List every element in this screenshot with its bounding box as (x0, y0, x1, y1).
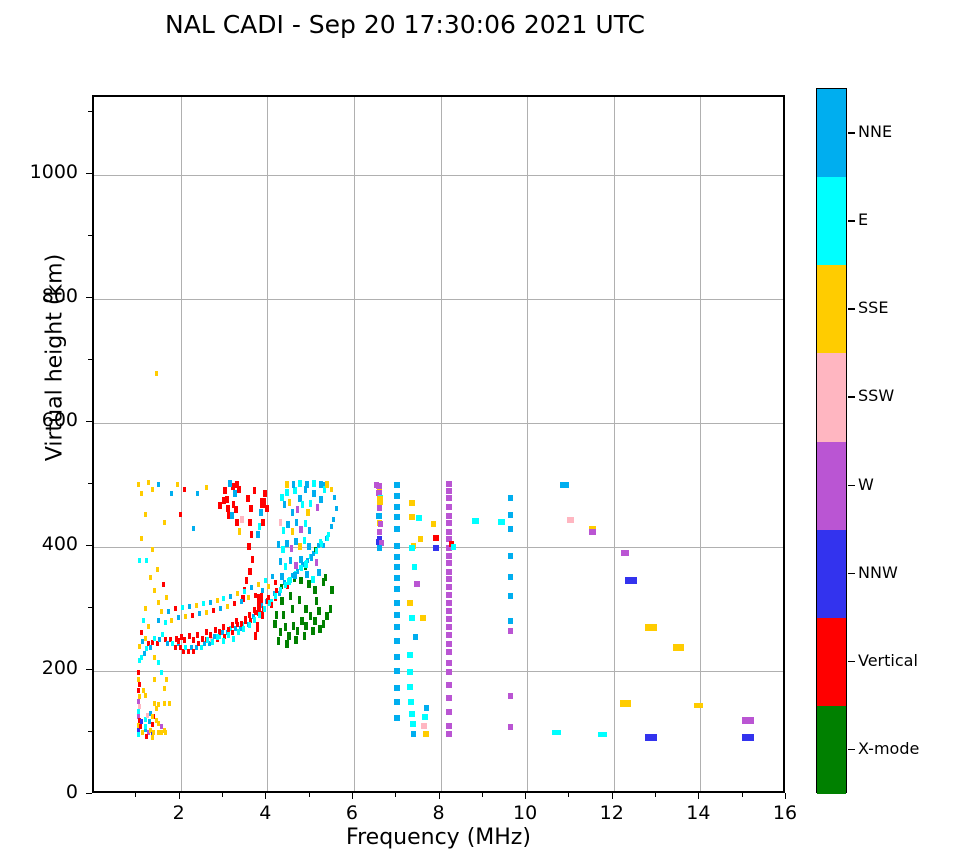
echo-point (243, 589, 246, 594)
echo-point (394, 554, 400, 560)
colorbar-label-x-mode: X-mode (858, 739, 919, 758)
echo-point (446, 616, 452, 622)
colorbar-label-e: E (858, 210, 868, 229)
echo-point (140, 536, 143, 541)
echo-point (424, 705, 430, 711)
echo-point (407, 652, 413, 658)
echo-point (412, 564, 418, 570)
echo-point (282, 611, 285, 619)
echo-point (333, 495, 336, 500)
echo-point (293, 487, 296, 494)
echo-point (283, 501, 286, 508)
echo-point (265, 505, 269, 512)
colorbar-segment-w (817, 442, 846, 530)
echo-point (313, 617, 316, 625)
x-tick-label: 10 (495, 802, 555, 824)
echo-point (184, 614, 187, 619)
echo-point (508, 724, 514, 730)
echo-point (446, 495, 452, 501)
echo-point (446, 560, 452, 566)
echo-point (248, 568, 251, 575)
echo-point (300, 565, 303, 571)
echo-point (137, 482, 140, 487)
echo-point (394, 600, 400, 606)
x-tick-minor (655, 793, 656, 797)
colorbar-label-nnw: NNW (858, 563, 898, 582)
y-tick-minor (88, 359, 92, 360)
echo-point (149, 645, 152, 650)
echo-point (288, 499, 291, 506)
echo-point (304, 520, 307, 527)
x-tick-label: 16 (755, 802, 815, 824)
echo-point (330, 586, 333, 594)
echo-point (307, 580, 310, 588)
echo-point (567, 517, 575, 523)
echo-point (235, 481, 239, 488)
echo-point (163, 520, 166, 525)
echo-point (421, 723, 427, 729)
echo-point (284, 563, 287, 570)
echo-point (319, 496, 322, 503)
echo-point (299, 526, 302, 533)
echo-point (253, 617, 256, 623)
echo-point (160, 609, 163, 614)
echo-point (446, 709, 452, 715)
y-tick-minor (88, 731, 92, 732)
echo-point (137, 670, 140, 675)
echo-point (222, 596, 225, 601)
echo-point (645, 734, 656, 741)
ionogram-page: NAL CADI - Sep 20 17:30:06 2021 UTC 2468… (0, 0, 958, 857)
echo-point (235, 519, 239, 526)
echo-point (446, 624, 452, 630)
x-tick (179, 793, 180, 799)
echo-point (394, 685, 400, 691)
echo-point (238, 528, 242, 535)
echo-point (198, 611, 201, 616)
echo-point (222, 624, 225, 630)
echo-point (446, 576, 452, 582)
echo-point (378, 521, 383, 527)
echo-point (286, 521, 289, 528)
echo-point (168, 701, 171, 706)
echo-point (433, 535, 439, 541)
echo-point (325, 481, 328, 488)
echo-point (153, 588, 156, 593)
echo-point (176, 482, 179, 487)
echo-point (285, 640, 288, 648)
x-tick-minor (568, 793, 569, 797)
colorbar-segment-vertical (817, 618, 846, 706)
colorbar-segment-nnw (817, 530, 846, 618)
echo-point (409, 514, 415, 520)
echo-point (311, 627, 314, 635)
echo-point (394, 482, 400, 488)
echo-point (242, 626, 245, 632)
echo-point (157, 702, 160, 707)
echo-point (226, 604, 229, 609)
echo-point (589, 529, 596, 535)
echo-point (216, 598, 219, 603)
x-tick-label: 6 (322, 802, 382, 824)
echo-point (394, 526, 400, 532)
colorbar (816, 88, 847, 793)
echo-point (315, 559, 318, 566)
echo-point (284, 623, 287, 631)
echo-point (275, 611, 278, 619)
echo-point (282, 527, 285, 534)
echo-point (310, 554, 313, 561)
echo-point (295, 519, 298, 526)
echo-point (394, 638, 400, 644)
echo-point (188, 604, 191, 609)
echo-point (446, 584, 452, 590)
echo-point (211, 639, 214, 645)
echo-point (246, 495, 249, 502)
echo-point (305, 481, 308, 488)
echo-point (446, 592, 452, 598)
echo-point (418, 536, 424, 542)
echo-point (218, 502, 222, 509)
echo-point (240, 599, 243, 604)
echo-point (229, 594, 232, 599)
x-tick-label: 4 (235, 802, 295, 824)
echo-point (394, 564, 400, 570)
x-tick-label: 8 (409, 802, 469, 824)
echo-point (446, 649, 452, 655)
echo-point (433, 545, 439, 551)
echo-point (250, 531, 253, 538)
y-tick-label: 200 (0, 657, 78, 679)
echo-point (416, 515, 422, 521)
echo-point (552, 730, 561, 735)
echo-point (281, 546, 284, 553)
echo-point (508, 553, 514, 559)
echo-point (153, 677, 156, 682)
echo-point (201, 636, 204, 642)
echo-point (232, 636, 235, 642)
echo-point (170, 491, 173, 496)
echo-point (138, 644, 141, 649)
echo-point (165, 677, 168, 682)
echo-point (183, 487, 186, 492)
echo-point (289, 592, 292, 600)
y-tick-label: 400 (0, 533, 78, 555)
y-tick (86, 173, 92, 174)
echo-point (205, 610, 208, 615)
echo-point (230, 512, 234, 519)
colorbar-tick (848, 132, 855, 134)
echo-point (298, 543, 301, 550)
echo-point (274, 580, 277, 585)
x-tick (352, 793, 353, 799)
echo-point (139, 724, 142, 729)
echo-point (264, 578, 267, 583)
echo-point (285, 489, 288, 496)
echo-point (257, 582, 260, 587)
echo-point (313, 586, 316, 594)
echo-point (157, 600, 160, 605)
echo-point (145, 734, 148, 739)
echo-point (645, 624, 656, 631)
echo-point (137, 688, 140, 693)
echo-point (144, 512, 147, 517)
colorbar-segment-x-mode (817, 706, 846, 794)
echo-point (446, 632, 452, 638)
echo-point (157, 660, 160, 665)
echo-point (560, 482, 569, 488)
echo-point (335, 506, 338, 511)
echo-point (422, 714, 428, 720)
echo-point (694, 703, 703, 708)
echo-point (625, 577, 636, 584)
echo-point (191, 613, 194, 618)
echo-point (138, 704, 141, 709)
echo-point (157, 618, 160, 623)
x-tick-label: 2 (149, 802, 209, 824)
echo-point (508, 512, 514, 518)
echo-point (446, 641, 452, 647)
echo-point (157, 482, 160, 487)
echo-point (408, 699, 414, 705)
echo-point (307, 543, 310, 550)
echo-point (598, 732, 607, 737)
echo-point (202, 601, 205, 606)
echo-point (181, 605, 184, 610)
y-tick-minor (88, 235, 92, 236)
echo-point (235, 618, 238, 624)
echo-point (236, 591, 239, 596)
colorbar-tick (848, 220, 855, 222)
plot-area (92, 95, 785, 793)
echo-point (259, 509, 263, 516)
echo-point (317, 569, 320, 576)
y-tick-minor (88, 607, 92, 608)
echo-point (394, 612, 400, 618)
echo-point (279, 519, 282, 526)
echo-point (423, 731, 429, 737)
echo-point (394, 543, 400, 549)
echo-point (394, 504, 400, 510)
echo-point (261, 588, 264, 593)
echo-point (410, 721, 416, 727)
x-tick (785, 793, 786, 799)
y-tick-label: 0 (0, 781, 78, 803)
echo-point (407, 684, 413, 690)
y-axis-title: Virtual height (km) (43, 208, 68, 508)
echo-point (261, 519, 265, 526)
echo-point (309, 612, 312, 620)
colorbar-tick (848, 308, 855, 310)
echo-point (292, 622, 295, 630)
echo-point (254, 632, 257, 640)
echo-point (158, 637, 161, 642)
echo-point (226, 505, 230, 512)
echo-point (138, 682, 141, 687)
echo-point (446, 529, 452, 535)
echo-point (206, 637, 209, 643)
echo-point (292, 481, 295, 488)
echo-point (227, 632, 230, 638)
echo-point (234, 506, 238, 513)
echo-point (409, 500, 415, 506)
echo-point (301, 501, 304, 508)
echo-point (308, 527, 311, 534)
colorbar-segment-e (817, 177, 846, 265)
echo-point (332, 517, 335, 522)
echo-point (322, 620, 325, 628)
echo-point (248, 612, 251, 618)
x-tick (612, 793, 613, 799)
echo-point (263, 490, 267, 497)
x-tick-minor (309, 793, 310, 797)
x-tick (698, 793, 699, 799)
echo-point (431, 521, 437, 527)
echo-point (446, 513, 452, 519)
echo-point (451, 544, 456, 550)
echo-point (300, 617, 303, 625)
echo-point (508, 526, 514, 532)
echo-point (409, 615, 415, 621)
echo-point (160, 730, 163, 735)
echo-point (237, 629, 240, 635)
echo-point (138, 558, 141, 563)
echo-point (177, 615, 180, 620)
echo-point (394, 654, 400, 660)
echo-point (205, 485, 208, 490)
echo-point (742, 734, 753, 741)
echo-point (377, 545, 382, 551)
echo-point (160, 670, 163, 675)
echo-point (165, 595, 168, 600)
echo-point (147, 480, 150, 485)
echo-point (317, 607, 320, 615)
echo-point (258, 523, 262, 530)
echo-point (446, 481, 452, 487)
y-tick-minor (88, 111, 92, 112)
echo-point (188, 633, 191, 639)
echo-point (285, 540, 288, 547)
echo-point (196, 491, 199, 496)
echo-point (394, 586, 400, 592)
echo-point (155, 371, 158, 376)
echo-point (149, 575, 152, 580)
echo-point (446, 488, 452, 494)
echo-point (256, 622, 259, 632)
echo-point (192, 637, 195, 643)
colorbar-label-ssw: SSW (858, 386, 894, 405)
colorbar-tick (848, 661, 855, 663)
echo-point (377, 496, 383, 505)
y-tick-minor (88, 483, 92, 484)
echo-point (143, 651, 146, 656)
echo-point (508, 628, 514, 634)
echo-point (148, 719, 151, 724)
echo-point (280, 573, 283, 580)
echo-point (377, 529, 382, 535)
echo-point (196, 632, 199, 638)
echo-point (291, 509, 294, 516)
colorbar-tick (848, 573, 855, 575)
x-tick (525, 793, 526, 799)
echo-point (377, 505, 382, 511)
echo-point (298, 596, 301, 604)
echo-point (179, 512, 182, 517)
echo-point (205, 629, 208, 635)
echo-point (376, 483, 381, 489)
colorbar-tick (848, 485, 855, 487)
echo-point (170, 618, 173, 623)
y-tick (86, 545, 92, 546)
echo-point (277, 637, 280, 645)
echo-point (140, 491, 143, 496)
echo-point (394, 624, 400, 630)
echo-point (394, 668, 400, 674)
echo-point (153, 701, 156, 706)
echo-point (291, 528, 294, 535)
echo-point (267, 584, 270, 589)
echo-point (324, 574, 327, 581)
echo-point (273, 620, 276, 628)
echo-point (446, 608, 452, 614)
y-tick (86, 669, 92, 670)
echo-point (192, 526, 195, 531)
colorbar-label-nne: NNE (858, 122, 892, 141)
echo-point (256, 531, 260, 538)
echo-point (312, 480, 315, 487)
echo-point (250, 585, 253, 590)
ionogram-scatter-points (94, 97, 783, 791)
echo-point (303, 632, 306, 640)
echo-point (151, 714, 154, 719)
echo-point (304, 605, 307, 613)
echo-point (329, 605, 332, 613)
echo-point (446, 723, 452, 729)
echo-point (209, 632, 212, 638)
echo-point (249, 505, 252, 512)
echo-point (296, 506, 299, 513)
echo-point (305, 571, 308, 578)
y-tick-label: 1000 (0, 161, 78, 183)
echo-point (411, 731, 417, 737)
x-axis-title: Frequency (MHz) (92, 825, 785, 850)
echo-point (446, 660, 452, 666)
echo-point (742, 717, 753, 724)
echo-point (304, 622, 307, 630)
echo-point (407, 669, 413, 675)
echo-point (151, 735, 154, 740)
echo-point (394, 575, 400, 581)
echo-point (261, 611, 264, 619)
echo-point (164, 620, 167, 625)
echo-point (330, 487, 333, 492)
echo-point (621, 550, 630, 556)
echo-point (472, 518, 479, 524)
echo-point (299, 577, 302, 584)
echo-point (446, 553, 452, 559)
colorbar-segment-ssw (817, 353, 846, 441)
x-tick-minor (222, 793, 223, 797)
echo-point (260, 593, 263, 603)
echo-point (268, 600, 271, 606)
echo-point (248, 519, 251, 526)
echo-point (299, 556, 302, 563)
x-tick-label: 14 (668, 802, 728, 824)
echo-point (151, 547, 154, 552)
echo-point (446, 520, 452, 526)
echo-point (290, 545, 293, 552)
echo-point (294, 538, 297, 545)
